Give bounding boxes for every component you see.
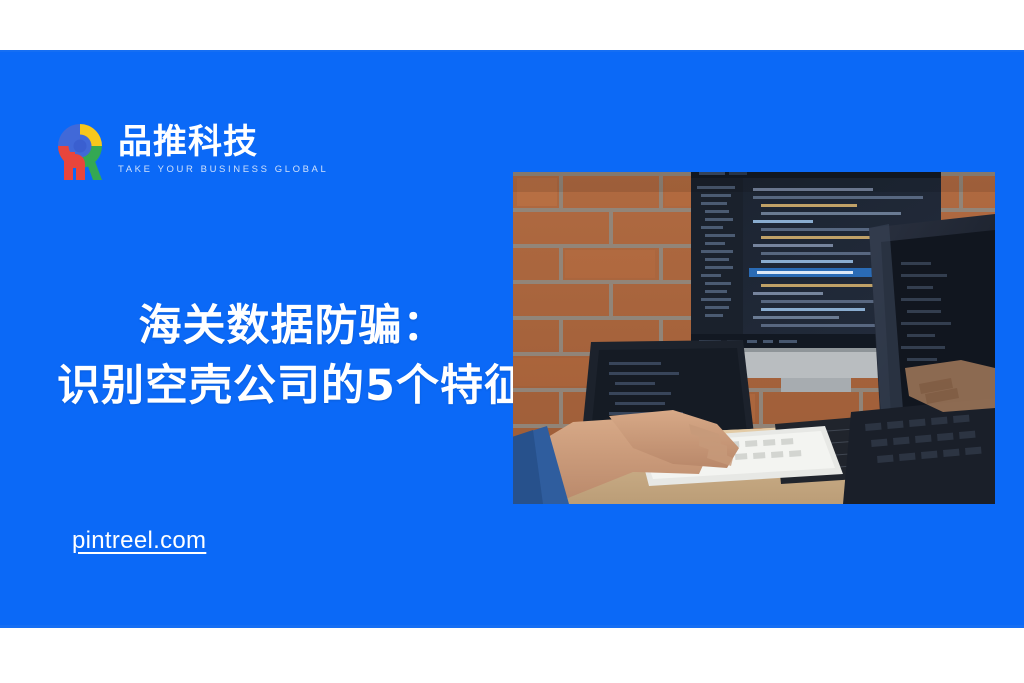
page-title: 海关数据防骗： 识别空壳公司的5个特征: [0, 296, 585, 416]
website-url-link[interactable]: pintreel.com: [72, 527, 206, 555]
page-title-line-1: 海关数据防骗：: [0, 296, 585, 356]
poster-canvas: 品推科技 TAKE YOUR BUSINESS GLOBAL 海关数据防骗： 识…: [0, 0, 1024, 683]
page-title-line-2: 识别空壳公司的5个特征: [0, 356, 585, 416]
banner-top-edge: [0, 50, 1024, 52]
logo-company-name: 品推科技: [118, 122, 328, 162]
pintreel-circular-p-logo-icon: [52, 118, 108, 184]
banner-bottom-edge: [0, 625, 1024, 628]
logo-text-block: 品推科技 TAKE YOUR BUSINESS GLOBAL: [118, 118, 328, 175]
workspace-photo: [513, 172, 995, 504]
brand-logo[interactable]: 品推科技 TAKE YOUR BUSINESS GLOBAL: [52, 118, 328, 184]
logo-tagline: TAKE YOUR BUSINESS GLOBAL: [118, 164, 328, 175]
